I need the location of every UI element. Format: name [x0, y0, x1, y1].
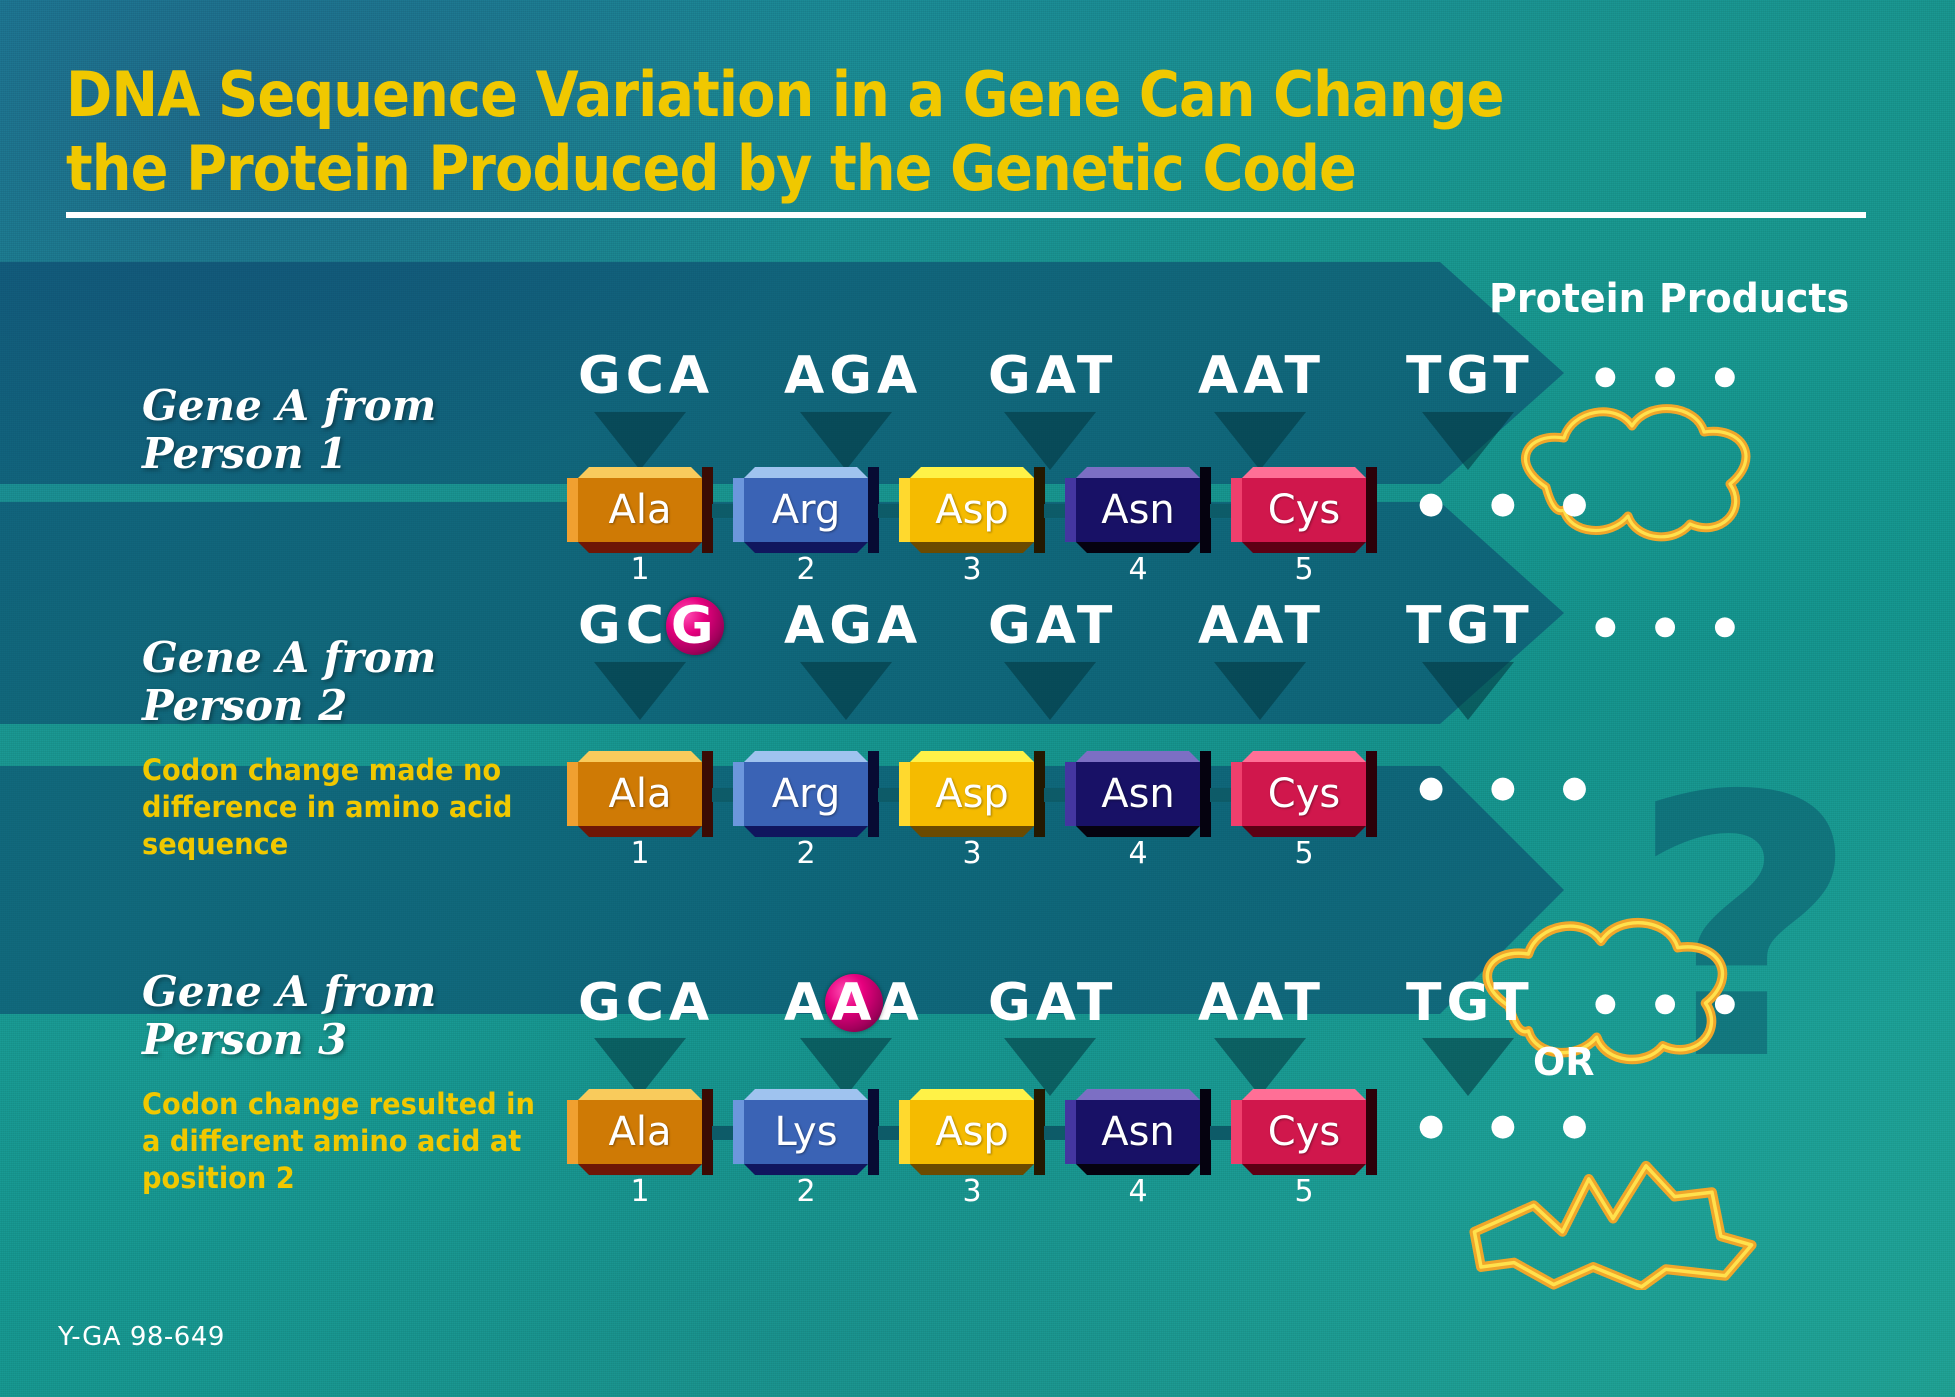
dna-base: A [877, 346, 922, 406]
box-bevel-right [1366, 467, 1377, 553]
gene-label-person-3: Gene A from Person 3 [142, 968, 436, 1064]
dna-codon-person-3-3: GAT [988, 975, 1117, 1031]
note-person-3: Codon change resulted in a different ami… [142, 1086, 565, 1197]
title-divider [66, 212, 1866, 218]
box-bevel-top [910, 467, 1034, 478]
box-bevel-top [744, 1089, 868, 1100]
dna-codon-person-2-3: GAT [988, 598, 1117, 654]
amino-acid-position-number: 3 [910, 836, 1034, 871]
dna-base: A [1198, 973, 1243, 1033]
translation-arrow-person-3-1 [594, 1038, 686, 1096]
dna-base: A [1243, 596, 1284, 656]
translation-arrow-person-2-1 [594, 662, 686, 720]
box-bevel-left [899, 1100, 910, 1164]
amino-acid-box-person-3-3: Asp [910, 1100, 1034, 1164]
amino-acid-position-number: 1 [578, 552, 702, 587]
dna-codon-person-1-3: GAT [988, 348, 1117, 404]
amino-acid-label: Ala [609, 1109, 672, 1155]
amino-acid-label: Ala [609, 771, 672, 817]
box-bevel-left [1231, 1100, 1242, 1164]
footer-code: Y-GA 98-649 [58, 1322, 225, 1352]
box-bevel-top [1242, 467, 1366, 478]
amino-acid-box-person-2-2: Arg [744, 762, 868, 826]
amino-acid-position-number: 2 [744, 552, 868, 587]
dna-codon-person-1-1: GCA [578, 348, 714, 404]
amino-acid-box-person-3-4: Asn [1076, 1100, 1200, 1164]
dna-ellipsis-person-3: ● ● ● [1594, 975, 1750, 1031]
box-bevel-left [733, 762, 744, 826]
box-bevel-top [1076, 751, 1200, 762]
amino-acid-box-person-1-2: Arg [744, 478, 868, 542]
amino-acid-label: Asn [1101, 487, 1175, 533]
dna-base: A [1243, 973, 1284, 1033]
dna-base: A [669, 346, 714, 406]
amino-acid-label: Asp [935, 1109, 1009, 1155]
box-bevel-top [578, 1089, 702, 1100]
box-bevel-left [899, 478, 910, 542]
dna-base: G [829, 346, 877, 406]
dna-codon-person-1-4: AAT [1198, 348, 1325, 404]
box-bevel-top [1242, 751, 1366, 762]
translation-arrow-person-2-5 [1422, 662, 1514, 720]
amino-acid-box-person-3-5: Cys [1242, 1100, 1366, 1164]
amino-acid-ellipsis-person-3: ● ● ● [1418, 1108, 1606, 1143]
dna-codon-person-3-2: AAA [784, 975, 924, 1031]
dna-base: T [1406, 346, 1446, 406]
box-bevel-top [578, 467, 702, 478]
box-bevel-right [1366, 1089, 1377, 1175]
dna-codon-person-3-5: TGT [1406, 975, 1534, 1031]
dna-base: T [1406, 596, 1446, 656]
dna-codon-person-3-1: GCA [578, 975, 714, 1031]
dna-base: A [1036, 346, 1077, 406]
dna-codon-person-2-5: TGT [1406, 598, 1534, 654]
dna-base: G [988, 346, 1036, 406]
translation-arrow-person-3-3 [1004, 1038, 1096, 1096]
dna-ellipsis-person-2: ● ● ● [1594, 598, 1750, 654]
page-title: DNA Sequence Variation in a Gene Can Cha… [66, 58, 1695, 206]
amino-acid-position-number: 1 [578, 836, 702, 871]
or-label: OR [1533, 1040, 1595, 1084]
dna-base: G [1446, 346, 1493, 406]
dna-codon-person-3-4: AAT [1198, 975, 1325, 1031]
dna-base: A [1243, 346, 1284, 406]
dna-base: G [988, 596, 1036, 656]
dna-base: A [784, 346, 829, 406]
box-bevel-left [1065, 1100, 1076, 1164]
amino-acid-position-number: 5 [1242, 1174, 1366, 1209]
amino-acid-box-person-2-4: Asn [1076, 762, 1200, 826]
box-bevel-top [1076, 467, 1200, 478]
dna-base: G [578, 596, 626, 656]
dna-base: C [626, 346, 669, 406]
amino-acid-label: Ala [609, 487, 672, 533]
box-bevel-top [744, 751, 868, 762]
amino-acid-label: Asn [1101, 771, 1175, 817]
dna-base: T [1077, 596, 1117, 656]
dna-base: T [1493, 346, 1533, 406]
translation-arrow-person-1-5 [1422, 412, 1514, 470]
dna-base: A [879, 973, 924, 1033]
dna-base: A [877, 596, 922, 656]
amino-acid-position-number: 5 [1242, 552, 1366, 587]
amino-acid-position-number: 4 [1076, 836, 1200, 871]
amino-acid-position-number: 4 [1076, 552, 1200, 587]
dna-base: C [626, 973, 669, 1033]
dna-base: C [626, 596, 669, 656]
dna-base: A [669, 973, 714, 1033]
dna-base: T [1284, 596, 1324, 656]
dna-codon-person-2-2: AGA [784, 598, 922, 654]
dna-base: G [988, 973, 1036, 1033]
gene-label-person-1: Gene A from Person 1 [142, 382, 436, 478]
dna-base: T [1406, 973, 1446, 1033]
translation-arrow-person-1-4 [1214, 412, 1306, 470]
amino-acid-box-person-3-1: Ala [578, 1100, 702, 1164]
dna-base: T [1077, 346, 1117, 406]
amino-acid-ellipsis-person-1: ● ● ● [1418, 486, 1606, 521]
dna-base: G [1446, 596, 1493, 656]
translation-arrow-person-1-3 [1004, 412, 1096, 470]
box-bevel-top [1076, 1089, 1200, 1100]
amino-acid-position-number: 3 [910, 552, 1034, 587]
amino-acid-label: Arg [772, 771, 841, 817]
mutation-highlight-person-3: A [829, 975, 878, 1031]
box-bevel-left [1065, 762, 1076, 826]
box-bevel-left [899, 762, 910, 826]
box-bevel-left [567, 1100, 578, 1164]
translation-arrow-person-3-4 [1214, 1038, 1306, 1096]
protein-products-heading: Protein Products [1489, 276, 1849, 322]
box-bevel-top [578, 751, 702, 762]
amino-acid-label: Cys [1268, 1109, 1340, 1155]
box-bevel-left [733, 478, 744, 542]
note-person-2: Codon change made no difference in amino… [142, 752, 565, 863]
gene-label-person-2: Gene A from Person 2 [142, 634, 436, 730]
amino-acid-box-person-1-1: Ala [578, 478, 702, 542]
box-bevel-left [1231, 478, 1242, 542]
box-bevel-top [910, 1089, 1034, 1100]
amino-acid-label: Arg [772, 487, 841, 533]
amino-acid-label: Asp [935, 771, 1009, 817]
dna-base: A [1198, 346, 1243, 406]
amino-acid-label: Asn [1101, 1109, 1175, 1155]
amino-acid-label: Cys [1268, 487, 1340, 533]
translation-arrow-person-2-4 [1214, 662, 1306, 720]
box-bevel-top [910, 751, 1034, 762]
box-bevel-top [1242, 1089, 1366, 1100]
dna-base: T [1284, 346, 1324, 406]
dna-base: T [1493, 596, 1533, 656]
dna-base: G [1446, 973, 1493, 1033]
amino-acid-box-person-2-5: Cys [1242, 762, 1366, 826]
amino-acid-label: Asp [935, 487, 1009, 533]
amino-acid-position-number: 5 [1242, 836, 1366, 871]
amino-acid-ellipsis-person-2: ● ● ● [1418, 770, 1606, 805]
amino-acid-position-number: 3 [910, 1174, 1034, 1209]
amino-acid-box-person-1-5: Cys [1242, 478, 1366, 542]
dna-base: A [1198, 596, 1243, 656]
dna-base: T [1493, 973, 1533, 1033]
box-bevel-left [567, 478, 578, 542]
dna-base: A [784, 596, 829, 656]
dna-base: A [784, 973, 829, 1033]
amino-acid-box-person-3-2: Lys [744, 1100, 868, 1164]
box-bevel-left [567, 762, 578, 826]
dna-codon-person-2-4: AAT [1198, 598, 1325, 654]
box-bevel-right [1366, 751, 1377, 837]
amino-acid-box-person-1-4: Asn [1076, 478, 1200, 542]
translation-arrow-person-1-2 [800, 412, 892, 470]
mutation-highlight-person-2: G [669, 598, 721, 654]
amino-acid-position-number: 2 [744, 1174, 868, 1209]
poster-canvas: ? DNA Sequence Variation in a Gene Can C… [0, 0, 1955, 1397]
translation-arrow-person-2-3 [1004, 662, 1096, 720]
translation-arrow-person-3-5 [1422, 1038, 1514, 1096]
amino-acid-box-person-2-3: Asp [910, 762, 1034, 826]
amino-acid-label: Cys [1268, 771, 1340, 817]
dna-codon-person-2-1: GCG [578, 598, 721, 654]
dna-base: T [1077, 973, 1117, 1033]
amino-acid-box-person-2-1: Ala [578, 762, 702, 826]
translation-arrow-person-2-2 [800, 662, 892, 720]
amino-acid-label: Lys [774, 1109, 837, 1155]
amino-acid-box-person-1-3: Asp [910, 478, 1034, 542]
dna-base: G [829, 596, 877, 656]
box-bevel-left [1065, 478, 1076, 542]
translation-arrow-person-1-1 [594, 412, 686, 470]
dna-base: G [578, 973, 626, 1033]
amino-acid-position-number: 2 [744, 836, 868, 871]
dna-base: G [578, 346, 626, 406]
amino-acid-position-number: 4 [1076, 1174, 1200, 1209]
amino-acid-position-number: 1 [578, 1174, 702, 1209]
box-bevel-left [1231, 762, 1242, 826]
box-bevel-left [733, 1100, 744, 1164]
box-bevel-top [744, 467, 868, 478]
dna-codon-person-1-5: TGT [1406, 348, 1534, 404]
translation-arrow-person-3-2 [800, 1038, 892, 1096]
dna-base: A [1036, 596, 1077, 656]
dna-base: A [1036, 973, 1077, 1033]
dna-base: T [1284, 973, 1324, 1033]
dna-ellipsis-person-1: ● ● ● [1594, 348, 1750, 404]
dna-codon-person-1-2: AGA [784, 348, 922, 404]
